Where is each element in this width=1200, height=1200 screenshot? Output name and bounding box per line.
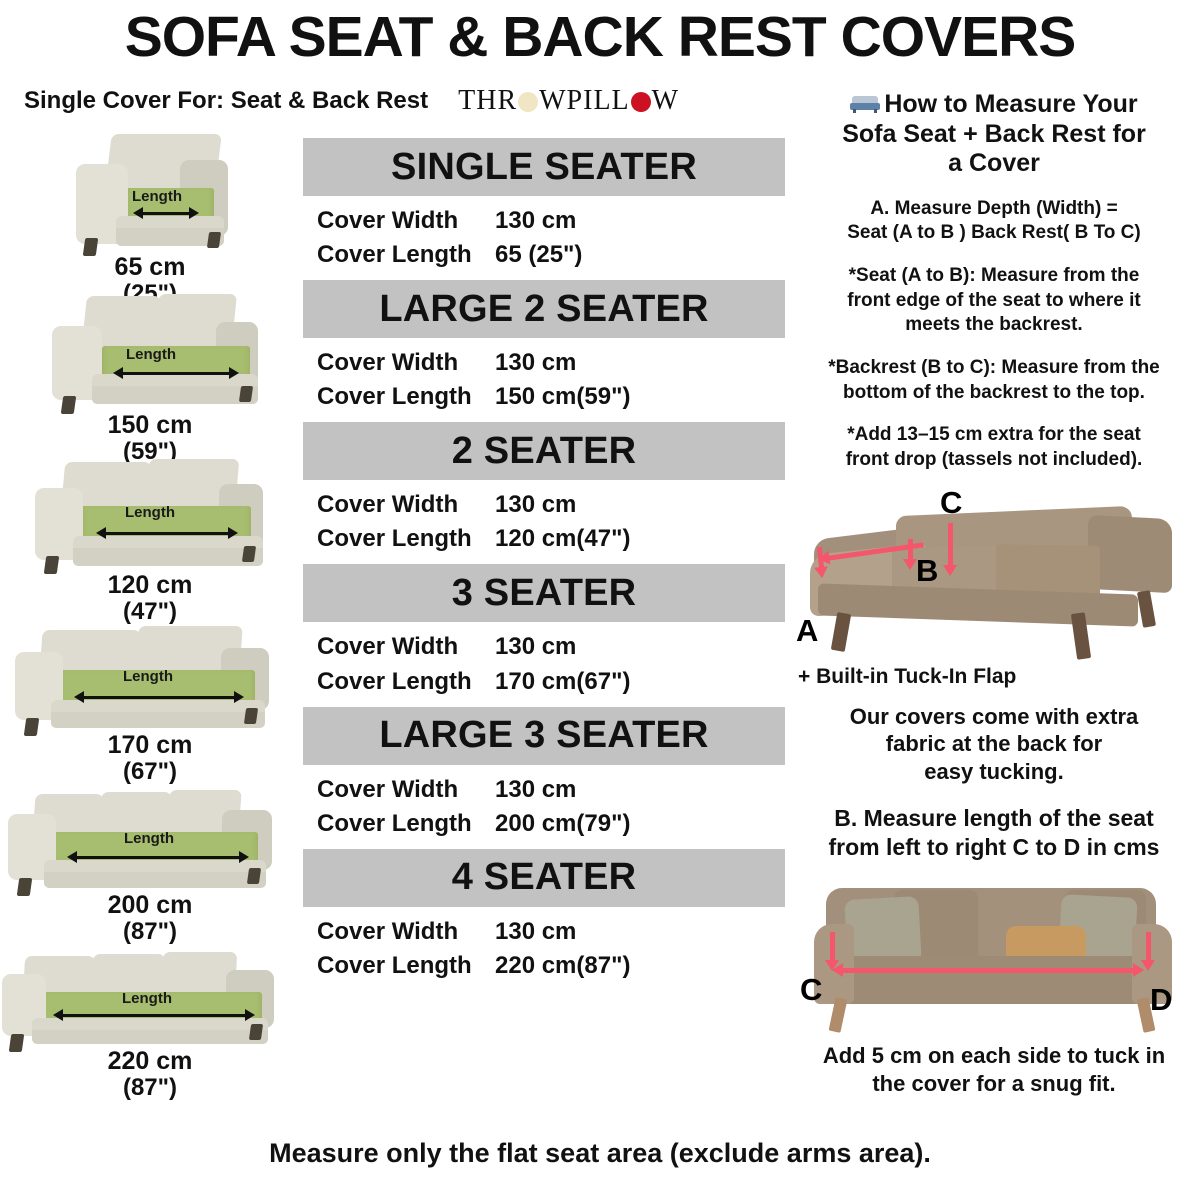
sofa-figure-2-seater: Length 120 cm (47") (0, 456, 300, 624)
spec-block-large-3-seater: LARGE 3 SEATER Cover Width 130 cm Cover … (303, 707, 785, 849)
arrow-c-to-d (842, 968, 1134, 973)
spec-rows: Cover Width 130 cm Cover Length 150 cm(5… (303, 338, 785, 422)
marker-a: A (796, 613, 818, 649)
tuck-note: Our covers come with extra fabric at the… (788, 703, 1200, 786)
length-arrow-icon (105, 532, 229, 535)
couch-icon (850, 96, 880, 113)
spec-row-width: Cover Width 130 cm (317, 915, 785, 949)
size-spec-column: SINGLE SEATER Cover Width 130 cm Cover L… (303, 138, 785, 991)
note-backrest-measurement: *Backrest (B to C): Measure from the bot… (788, 356, 1200, 405)
subtitle-text: Single Cover For: Seat & Back Rest (24, 87, 428, 115)
spec-rows: Cover Width 130 cm Cover Length 200 cm(7… (303, 765, 785, 849)
cover-length-label: Cover Length (317, 807, 495, 841)
length-arrow-icon (122, 372, 230, 375)
spec-row-length: Cover Length 200 cm(79") (317, 807, 785, 841)
spec-rows: Cover Width 130 cm Cover Length 120 cm(4… (303, 480, 785, 564)
cover-width-value: 130 cm (495, 346, 576, 380)
spec-row-width: Cover Width 130 cm (317, 488, 785, 522)
length-label: Length (124, 830, 174, 847)
footer-note: Measure only the flat seat area (exclude… (0, 1138, 1200, 1169)
length-arrow-icon (62, 1014, 246, 1017)
spec-row-length: Cover Length 170 cm(67") (317, 665, 785, 699)
length-label: Length (125, 504, 175, 521)
cover-width-value: 130 cm (495, 488, 576, 522)
length-label: Length (126, 346, 176, 363)
spec-title: LARGE 3 SEATER (303, 707, 785, 765)
spec-row-width: Cover Width 130 cm (317, 346, 785, 380)
spec-title: 2 SEATER (303, 422, 785, 480)
page-title: SOFA SEAT & BACK REST COVERS (0, 8, 1200, 68)
cover-width-value: 130 cm (495, 915, 576, 949)
length-arrow-icon (83, 696, 235, 699)
spec-title: LARGE 2 SEATER (303, 280, 785, 338)
spec-row-length: Cover Length 120 cm(47") (317, 522, 785, 556)
note-extra-fabric: *Add 13–15 cm extra for the seat front d… (788, 423, 1200, 472)
dimension-inch: (67") (0, 759, 300, 784)
spec-row-width: Cover Width 130 cm (317, 204, 785, 238)
arrow-down-d (1146, 932, 1151, 962)
cover-width-label: Cover Width (317, 773, 495, 807)
spec-row-length: Cover Length 65 (25") (317, 238, 785, 272)
marker-c-left: C (800, 972, 822, 1008)
spec-title: 4 SEATER (303, 849, 785, 907)
sofa-dimension-2seater: 120 cm (47") (0, 572, 300, 624)
measure-point-b: B. Measure length of the seat from left … (788, 804, 1200, 862)
length-arrow-icon (76, 856, 240, 859)
cover-length-label: Cover Length (317, 949, 495, 983)
sofa-figure-large-2-seater: Length 150 cm (59") (0, 292, 300, 456)
spec-rows: Cover Width 130 cm Cover Length 65 (25") (303, 196, 785, 280)
sofa-figure-4-seater: Length 220 cm (87") (0, 950, 300, 1100)
snug-fit-note: Add 5 cm on each side to tuck in the cov… (788, 1042, 1200, 1097)
marker-d-right: D (1150, 982, 1172, 1018)
spec-row-length: Cover Length 150 cm(59") (317, 380, 785, 414)
brand-text-part1: THR (458, 85, 517, 117)
spec-row-length: Cover Length 220 cm(87") (317, 949, 785, 983)
length-label: Length (123, 668, 173, 685)
title-line-2: Sofa Seat + Back Rest for (842, 120, 1146, 148)
length-label: Length (122, 990, 172, 1007)
measure-point-a: A. Measure Depth (Width) = Seat (A to B … (788, 197, 1200, 246)
cover-width-label: Cover Width (317, 630, 495, 664)
spec-title: 3 SEATER (303, 564, 785, 622)
title-line-1: How to Measure Your (884, 90, 1137, 118)
spec-block-large-2-seater: LARGE 2 SEATER Cover Width 130 cm Cover … (303, 280, 785, 422)
spec-title: SINGLE SEATER (303, 138, 785, 196)
cover-length-value: 65 (25") (495, 238, 582, 272)
spec-block-4-seater: 4 SEATER Cover Width 130 cm Cover Length… (303, 849, 785, 991)
title-line-3: a Cover (948, 149, 1040, 177)
spec-block-3-seater: 3 SEATER Cover Width 130 cm Cover Length… (303, 564, 785, 706)
sofa-diagram-cd: C D (788, 872, 1200, 1036)
cover-length-value: 220 cm(87") (495, 949, 630, 983)
spec-row-width: Cover Width 130 cm (317, 630, 785, 664)
marker-b: B (916, 553, 938, 589)
how-to-measure-column: How to Measure Your Sofa Seat + Back Res… (788, 90, 1200, 1097)
dimension-inch: (47") (0, 599, 300, 624)
brand-cream-circle-icon (518, 92, 538, 112)
brand-logo: THRWPILLW (458, 85, 679, 117)
infographic-page: SOFA SEAT & BACK REST COVERS Single Cove… (0, 0, 1200, 1200)
dimension-inch: (87") (0, 1075, 300, 1100)
cover-length-label: Cover Length (317, 380, 495, 414)
arrow-down-c (830, 932, 835, 962)
sofa-figure-large-3-seater: Length 200 cm (87") (0, 788, 300, 950)
subtitle-row: Single Cover For: Seat & Back Rest THRWP… (24, 84, 784, 118)
sofa-figure-3-seater: Length 170 cm (67") (0, 624, 300, 788)
cover-length-label: Cover Length (317, 238, 495, 272)
how-to-measure-title: How to Measure Your Sofa Seat + Back Res… (788, 90, 1200, 179)
cover-length-label: Cover Length (317, 665, 495, 699)
cover-width-value: 130 cm (495, 204, 576, 238)
cover-length-value: 150 cm(59") (495, 380, 630, 414)
sofa-illustration-column: Length 65 cm (25") Length (0, 132, 300, 1100)
note-seat-measurement: *Seat (A to B): Measure from the front e… (788, 264, 1200, 338)
brand-text-part2: WPILL (539, 85, 630, 117)
brand-red-circle-icon (631, 92, 651, 112)
length-arrow-icon (142, 212, 190, 215)
cover-width-label: Cover Width (317, 488, 495, 522)
length-label: Length (132, 188, 182, 205)
marker-c: C (940, 485, 962, 521)
spec-block-single-seater: SINGLE SEATER Cover Width 130 cm Cover L… (303, 138, 785, 280)
spec-rows: Cover Width 130 cm Cover Length 170 cm(6… (303, 622, 785, 706)
brand-text-part3: W (652, 85, 679, 117)
sofa-figure-single-seater: Length 65 cm (25") (0, 132, 300, 292)
cover-length-label: Cover Length (317, 522, 495, 556)
spec-rows: Cover Width 130 cm Cover Length 220 cm(8… (303, 907, 785, 991)
dimension-inch: (87") (0, 919, 300, 944)
arrow-down-b (908, 539, 913, 561)
cover-width-label: Cover Width (317, 346, 495, 380)
cover-width-value: 130 cm (495, 630, 576, 664)
cover-width-label: Cover Width (317, 915, 495, 949)
spec-block-2-seater: 2 SEATER Cover Width 130 cm Cover Length… (303, 422, 785, 564)
spec-row-width: Cover Width 130 cm (317, 773, 785, 807)
sofa-diagram-abc: A B C (788, 487, 1200, 669)
cover-length-value: 120 cm(47") (495, 522, 630, 556)
cover-width-label: Cover Width (317, 204, 495, 238)
cover-width-value: 130 cm (495, 773, 576, 807)
cover-length-value: 170 cm(67") (495, 665, 630, 699)
arrow-c-backrest (948, 523, 953, 567)
cover-length-value: 200 cm(79") (495, 807, 630, 841)
